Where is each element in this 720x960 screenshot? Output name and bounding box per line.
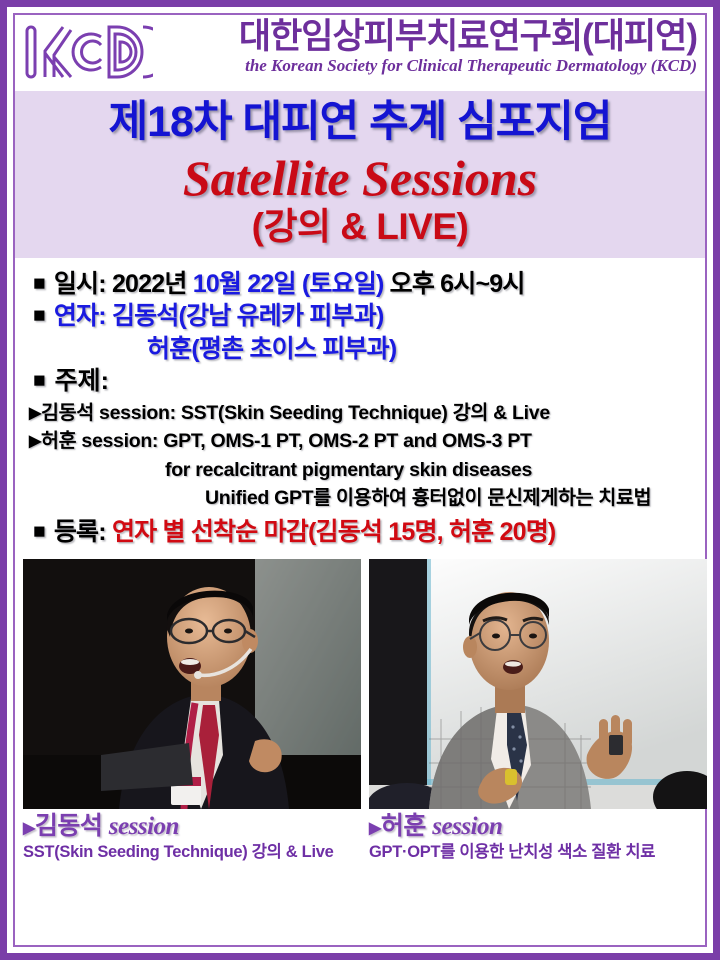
date-time: 오후 6시~9시 — [390, 270, 525, 298]
photo-caption-desc-1: SST(Skin Seeding Technique) 강의 & Live — [23, 843, 361, 863]
date-year: 2022년 — [112, 270, 187, 298]
speaker-line-1: ■ 연자: 김동석(강남 유레카 피부과) — [15, 300, 705, 333]
date-line: ■ 일시: 2022년 10월 22일 (토요일) 오후 6시~9시 — [15, 268, 705, 301]
speaker-photo-cell-1: ▶김동석 session SST(Skin Seeding Technique)… — [23, 559, 361, 863]
symposium-title-en: Satellite Sessions — [15, 150, 705, 208]
triangle-bullet-icon: ▶ — [29, 433, 41, 450]
title-band: 제18차 대피연 추계 심포지엄 Satellite Sessions (강의 … — [15, 91, 705, 258]
date-label: 일시: — [54, 270, 106, 298]
photo-caption-name-1: ▶김동석 session — [23, 812, 361, 841]
topic-item-2-cont-2: Unified GPT를 이용하여 흉터없이 문신제게하는 치료법 — [15, 484, 705, 512]
poster-content: 대한임상피부치료연구회(대피연) the Korean Society for … — [15, 15, 705, 945]
photo-caption-desc-2: GPT·OPT를 이용한 난치성 색소 질환 치료 — [369, 843, 707, 863]
square-bullet-icon: ■ — [33, 369, 48, 392]
speaker-label: 연자: — [54, 302, 106, 330]
speaker-kim-dongseok-photo — [23, 559, 361, 809]
triangle-bullet-icon: ▶ — [23, 820, 35, 837]
topic-item-2-text: 허훈 session: GPT, OMS-1 PT, OMS-2 PT and … — [41, 430, 532, 452]
symposium-subtitle: (강의 & LIVE) — [15, 207, 705, 248]
society-name-block: 대한임상피부치료연구회(대피연) the Korean Society for … — [153, 19, 699, 75]
caption-session-label-1: session — [109, 813, 179, 840]
kcd-logo-icon — [23, 21, 153, 83]
topic-item-1-text: 김동석 session: SST(Skin Seeding Technique)… — [41, 402, 550, 424]
caption-speaker-name-1: 김동석 — [35, 812, 103, 840]
society-name-kr: 대한임상피부치료연구회(대피연) — [239, 19, 697, 56]
society-name-en: the Korean Society for Clinical Therapeu… — [245, 57, 697, 76]
photo-caption-name-2: ▶허훈 session — [369, 812, 707, 841]
speaker-line-2: 허훈(평촌 초이스 피부과) — [15, 333, 705, 366]
topic-heading: ■ 주제: — [15, 365, 705, 399]
triangle-bullet-icon: ▶ — [29, 405, 41, 422]
square-bullet-icon: ■ — [33, 272, 48, 295]
date-day: 10월 22일 (토요일) — [193, 270, 384, 298]
topic-item-2-cont-1: for recalcitrant pigmentary skin disease… — [15, 456, 705, 484]
poster: 대한임상피부치료연구회(대피연) the Korean Society for … — [0, 0, 720, 960]
registration-label: 등록: — [54, 518, 106, 546]
triangle-bullet-icon: ▶ — [369, 820, 381, 837]
symposium-title-kr: 제18차 대피연 추계 심포지엄 — [15, 97, 705, 148]
speaker-heo-hun-photo — [369, 559, 707, 809]
speaker-name-1: 김동석(강남 유레카 피부과) — [112, 302, 384, 330]
caption-speaker-name-2: 허훈 — [381, 812, 426, 840]
speaker-photos: ▶김동석 session SST(Skin Seeding Technique)… — [15, 551, 705, 863]
info-block: ■ 일시: 2022년 10월 22일 (토요일) 오후 6시~9시 ■ 연자:… — [15, 258, 705, 551]
registration-line: ■ 등록: 연자 별 선착순 마감(김동석 15명, 허훈 20명) — [15, 516, 705, 549]
square-bullet-icon: ■ — [33, 520, 48, 543]
speaker-photo-cell-2: ▶허훈 session GPT·OPT를 이용한 난치성 색소 질환 치료 — [369, 559, 707, 863]
topic-item-1: ▶김동석 session: SST(Skin Seeding Technique… — [15, 399, 705, 427]
registration-value: 연자 별 선착순 마감(김동석 15명, 허훈 20명) — [112, 518, 556, 546]
topic-label: 주제: — [55, 367, 109, 395]
topic-item-2: ▶허훈 session: GPT, OMS-1 PT, OMS-2 PT and… — [15, 427, 705, 455]
poster-header: 대한임상피부치료연구회(대피연) the Korean Society for … — [15, 15, 705, 91]
square-bullet-icon: ■ — [33, 304, 48, 327]
caption-session-label-2: session — [432, 813, 502, 840]
speaker-name-2: 허훈(평촌 초이스 피부과) — [147, 335, 396, 363]
